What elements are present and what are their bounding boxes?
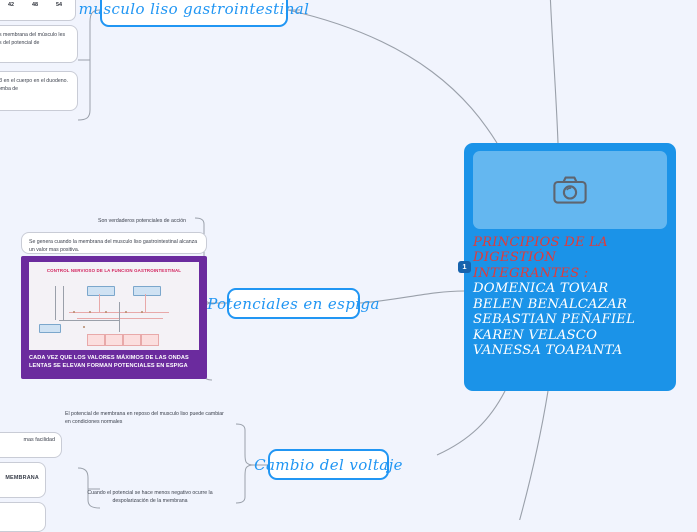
diagram-node bbox=[125, 311, 127, 313]
camera-icon bbox=[553, 176, 587, 204]
note-text: Cuando el potencial se hace menos negati… bbox=[87, 490, 212, 504]
note-se-genera[interactable]: Se genera cuando la membrana del musculo… bbox=[21, 232, 207, 254]
diagram-connector bbox=[145, 294, 146, 312]
note-membrana[interactable]: MEMBRANA bbox=[0, 462, 46, 498]
root-member-line: BELEN BENALCAZAR bbox=[473, 297, 667, 312]
media-card-caption: CADA VEZ QUE LOS VALORES MÁXIMOS DE LAS … bbox=[29, 354, 199, 370]
root-title-line: INTEGRANTES : bbox=[473, 266, 667, 281]
root-member-line: DOMENICA TOVAR bbox=[473, 281, 667, 296]
diagram-connector bbox=[119, 302, 120, 332]
root-node-badge: 1 bbox=[458, 261, 471, 273]
edge-musculo-notes bbox=[78, 10, 100, 120]
node-potenciales-en-espiga[interactable]: Potenciales en espiga bbox=[227, 288, 360, 319]
diagram-connector bbox=[63, 286, 64, 320]
edge-root-down bbox=[518, 391, 548, 520]
mindmap-canvas[interactable]: 30 36 42 48 54 os o de las contracciones… bbox=[0, 0, 697, 520]
diagram-cell bbox=[141, 334, 159, 346]
diagram-cell bbox=[123, 334, 141, 346]
media-card-image-title: CONTROL NERVIOSO DE LA FUNCION GASTROINT… bbox=[29, 262, 199, 275]
diagram-cell bbox=[105, 334, 123, 346]
note-text: El potencial de membrana en reposo del m… bbox=[65, 411, 224, 425]
node-cambio-del-voltaje[interactable]: Cambio del voltaje bbox=[268, 449, 389, 480]
diagram-node bbox=[73, 311, 75, 313]
node-label: musculo liso gastrointestinal bbox=[79, 0, 310, 18]
note-milivoltios[interactable]: 5 milivoltios y su uto. 3 en el cuerpo e… bbox=[0, 71, 78, 111]
root-member-line: SEBASTIAN PEÑAFIEL bbox=[473, 312, 667, 327]
edge-root-musculo bbox=[288, 10, 497, 143]
note-text: Se genera cuando la membrana del musculo… bbox=[29, 239, 197, 253]
root-member-line: KAREN VELASCO bbox=[473, 328, 667, 343]
edge-cambio-note-despolarizacion bbox=[236, 465, 254, 503]
media-card-image: CONTROL NERVIOSO DE LA FUNCION GASTROINT… bbox=[29, 262, 199, 350]
chart-tick-label: 48 bbox=[32, 2, 38, 8]
note-text: mas facilidad bbox=[0, 437, 55, 443]
chart-card-partial[interactable]: 30 36 42 48 54 os bbox=[0, 0, 76, 21]
diagram-cell bbox=[87, 334, 105, 346]
edge-root-downleft bbox=[437, 391, 505, 455]
note-verdaderos-potenciales[interactable]: Son verdaderos potenciales de acción bbox=[74, 212, 210, 226]
diagram-box bbox=[133, 286, 161, 296]
root-node-text-block: PRINCIPIOS DE LA DIGESTIÓN INTEGRANTES :… bbox=[473, 235, 667, 359]
note-contracciones[interactable]: o de las contracciones membrana del músc… bbox=[0, 25, 78, 63]
note-mas-facilidad[interactable]: mas facilidad bbox=[0, 432, 62, 458]
note-text: Son verdaderos potenciales de acción bbox=[98, 218, 186, 224]
note-despolarizacion[interactable]: Cuando el potencial se hace menos negati… bbox=[62, 484, 238, 504]
root-title-line: PRINCIPIOS DE LA bbox=[473, 235, 667, 250]
edge-root-up bbox=[550, 0, 558, 143]
note-text: MEMBRANA bbox=[0, 467, 39, 481]
root-title-line: DIGESTIÓN bbox=[473, 250, 667, 265]
node-label: Cambio del voltaje bbox=[254, 456, 403, 474]
root-node-principios-de-la-digestion[interactable]: 1 PRINCIPIOS DE LA DIGESTIÓN INTEGRANTES… bbox=[464, 143, 676, 391]
note-bottom-partial[interactable] bbox=[0, 502, 46, 532]
root-node-image-placeholder[interactable] bbox=[473, 151, 667, 229]
diagram-node bbox=[83, 326, 85, 328]
diagram-node bbox=[141, 311, 143, 313]
note-potencial-reposo[interactable]: El potencial de membrana en reposo del m… bbox=[58, 405, 238, 425]
diagram-node bbox=[105, 311, 107, 313]
chart-tick-label: 54 bbox=[56, 2, 62, 8]
node-musculo-liso-gastrointestinal[interactable]: musculo liso gastrointestinal bbox=[100, 0, 288, 27]
diagram-connector bbox=[99, 294, 100, 312]
media-card-control-nervioso[interactable]: CONTROL NERVIOSO DE LA FUNCION GASTROINT… bbox=[21, 256, 207, 379]
diagram-connector bbox=[77, 318, 163, 319]
diagram-connector bbox=[59, 320, 119, 321]
chart-tick-label: 42 bbox=[8, 2, 14, 8]
diagram-connector bbox=[55, 286, 56, 320]
note-text: 5 milivoltios y su uto. 3 en el cuerpo e… bbox=[0, 78, 68, 92]
diagram-box bbox=[87, 286, 115, 296]
diagram-box bbox=[39, 324, 61, 333]
node-label: Potenciales en espiga bbox=[207, 295, 380, 313]
root-member-line: VANESSA TOAPANTA bbox=[473, 343, 667, 358]
note-text: o de las contracciones membrana del músc… bbox=[0, 32, 65, 46]
diagram-node bbox=[89, 311, 91, 313]
